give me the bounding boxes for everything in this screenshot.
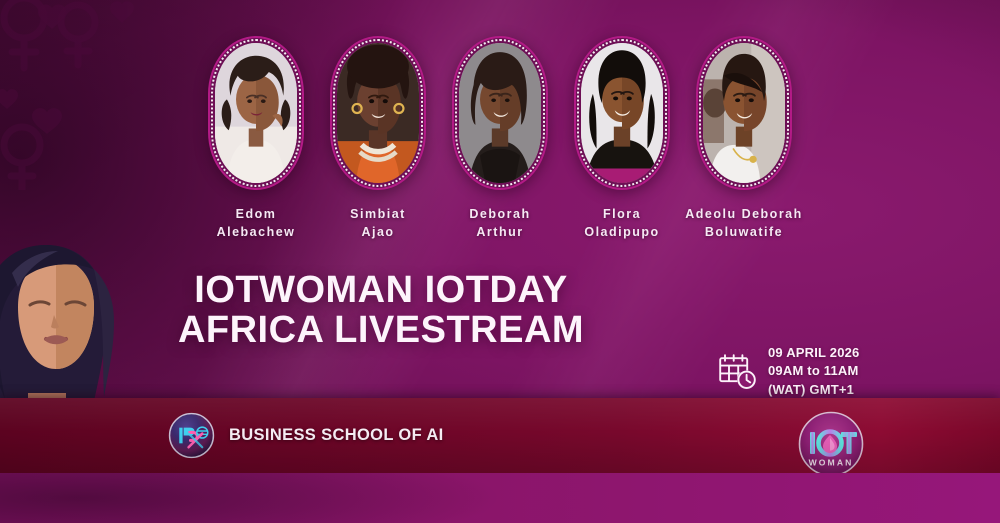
speaker-portrait-frame: [208, 36, 304, 190]
speaker-photo: [459, 43, 541, 183]
speaker-card: Flora Oladipupo: [568, 36, 676, 241]
event-timezone: (WAT) GMT+1: [768, 381, 860, 399]
iotwoman-logo-icon: WOMAN: [797, 410, 865, 478]
speaker-portrait-frame: [696, 36, 792, 190]
speaker-photo: [703, 43, 785, 183]
speaker-card: Adeolu Deborah Boluwatife: [690, 36, 798, 241]
svg-text:WOMAN: WOMAN: [809, 458, 854, 468]
event-banner: Edom Alebachew: [0, 0, 1000, 523]
event-schedule: 09 APRIL 2026 09AM to 11AM (WAT) GMT+1: [718, 344, 860, 399]
brand-block: BUSINESS SCHOOL OF AI: [168, 412, 444, 459]
speaker-card: Edom Alebachew: [202, 36, 310, 241]
schedule-text: 09 APRIL 2026 09AM to 11AM (WAT) GMT+1: [768, 344, 860, 399]
speaker-first-name: Edom: [236, 207, 277, 221]
speaker-name: Adeolu Deborah Boluwatife: [685, 205, 803, 241]
bottom-band: [0, 473, 1000, 523]
speaker-name: Edom Alebachew: [217, 205, 296, 241]
speaker-name: Flora Oladipupo: [584, 205, 659, 241]
speaker-list: Edom Alebachew: [0, 36, 1000, 241]
speaker-last-name: Arthur: [469, 223, 530, 241]
event-time: 09AM to 11AM: [768, 362, 860, 380]
speaker-portrait-frame: [452, 36, 548, 190]
speaker-name: Deborah Arthur: [469, 205, 530, 241]
event-date: 09 APRIL 2026: [768, 344, 860, 362]
event-title-line1: IOTWOMAN IOTDAY: [0, 270, 762, 310]
speaker-first-name: Adeolu Deborah: [685, 207, 803, 221]
speaker-portrait-frame: [574, 36, 670, 190]
brand-name: BUSINESS SCHOOL OF AI: [229, 426, 444, 445]
speaker-name: Simbiat Ajao: [350, 205, 406, 241]
speaker-photo: [337, 43, 419, 183]
bsa-logo-icon: [168, 412, 215, 459]
speaker-photo: [215, 43, 297, 183]
event-title: IOTWOMAN IOTDAY AFRICA LIVESTREAM: [0, 270, 762, 351]
speaker-last-name: Oladipupo: [584, 223, 659, 241]
speaker-photo: [581, 43, 663, 183]
footer-bar: BUSINESS SCHOOL OF AI: [0, 398, 1000, 473]
speaker-first-name: Deborah: [469, 207, 530, 221]
speaker-last-name: Ajao: [350, 223, 406, 241]
speaker-portrait-frame: [330, 36, 426, 190]
event-title-line2: AFRICA LIVESTREAM: [0, 310, 762, 350]
speaker-last-name: Alebachew: [217, 223, 296, 241]
speaker-card: Simbiat Ajao: [324, 36, 432, 241]
speaker-card: Deborah Arthur: [446, 36, 554, 241]
speaker-first-name: Flora: [603, 207, 641, 221]
speaker-last-name: Boluwatife: [685, 223, 803, 241]
speaker-first-name: Simbiat: [350, 207, 406, 221]
calendar-clock-icon: [718, 352, 758, 392]
